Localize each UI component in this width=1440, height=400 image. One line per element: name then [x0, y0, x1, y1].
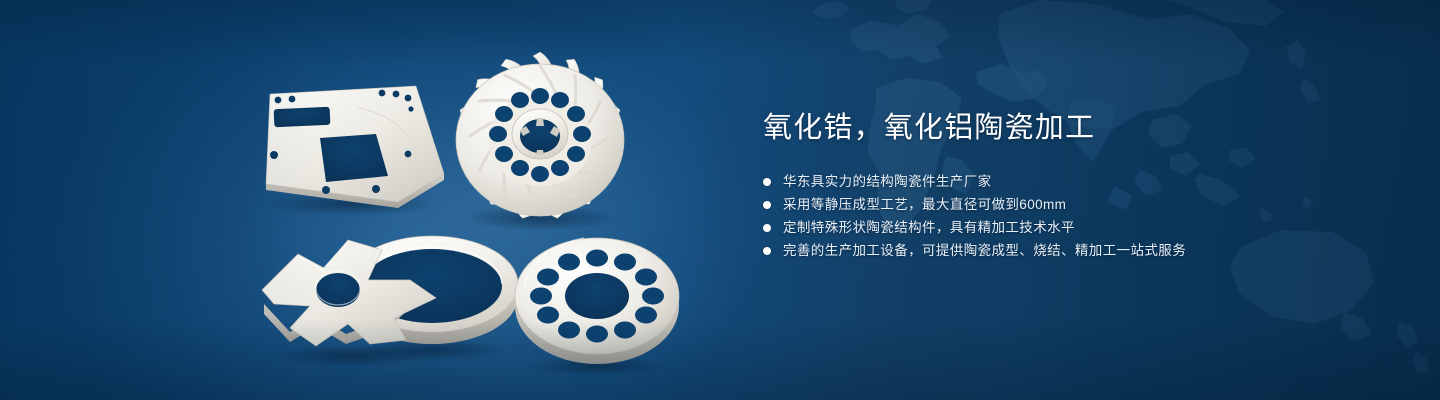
bullet-dot-icon: [763, 247, 771, 255]
bullet-dot-icon: [763, 178, 771, 186]
page-title: 氧化锆，氧化铝陶瓷加工: [763, 108, 1363, 148]
feature-list: 华东具实力的结构陶瓷件生产厂家 采用等静压成型工艺，最大直径可做到600mm 定…: [763, 170, 1363, 262]
list-item-label: 定制特殊形状陶瓷结构件，具有精加工技术水平: [783, 216, 1075, 239]
list-item: 华东具实力的结构陶瓷件生产厂家: [763, 170, 1363, 193]
list-item-label: 华东具实力的结构陶瓷件生产厂家: [783, 170, 992, 193]
list-item-label: 采用等静压成型工艺，最大直径可做到600mm: [783, 193, 1066, 216]
banner-copy: 氧化锆，氧化铝陶瓷加工 华东具实力的结构陶瓷件生产厂家 采用等静压成型工艺，最大…: [763, 108, 1363, 262]
list-item: 完善的生产加工设备，可提供陶瓷成型、烧结、精加工一站式服务: [763, 239, 1363, 262]
bullet-dot-icon: [763, 201, 771, 209]
hero-banner: 氧化锆，氧化铝陶瓷加工 华东具实力的结构陶瓷件生产厂家 采用等静压成型工艺，最大…: [0, 0, 1440, 400]
list-item: 定制特殊形状陶瓷结构件，具有精加工技术水平: [763, 216, 1363, 239]
bullet-dot-icon: [763, 224, 771, 232]
list-item: 采用等静压成型工艺，最大直径可做到600mm: [763, 193, 1363, 216]
list-item-label: 完善的生产加工设备，可提供陶瓷成型、烧结、精加工一站式服务: [783, 239, 1186, 262]
